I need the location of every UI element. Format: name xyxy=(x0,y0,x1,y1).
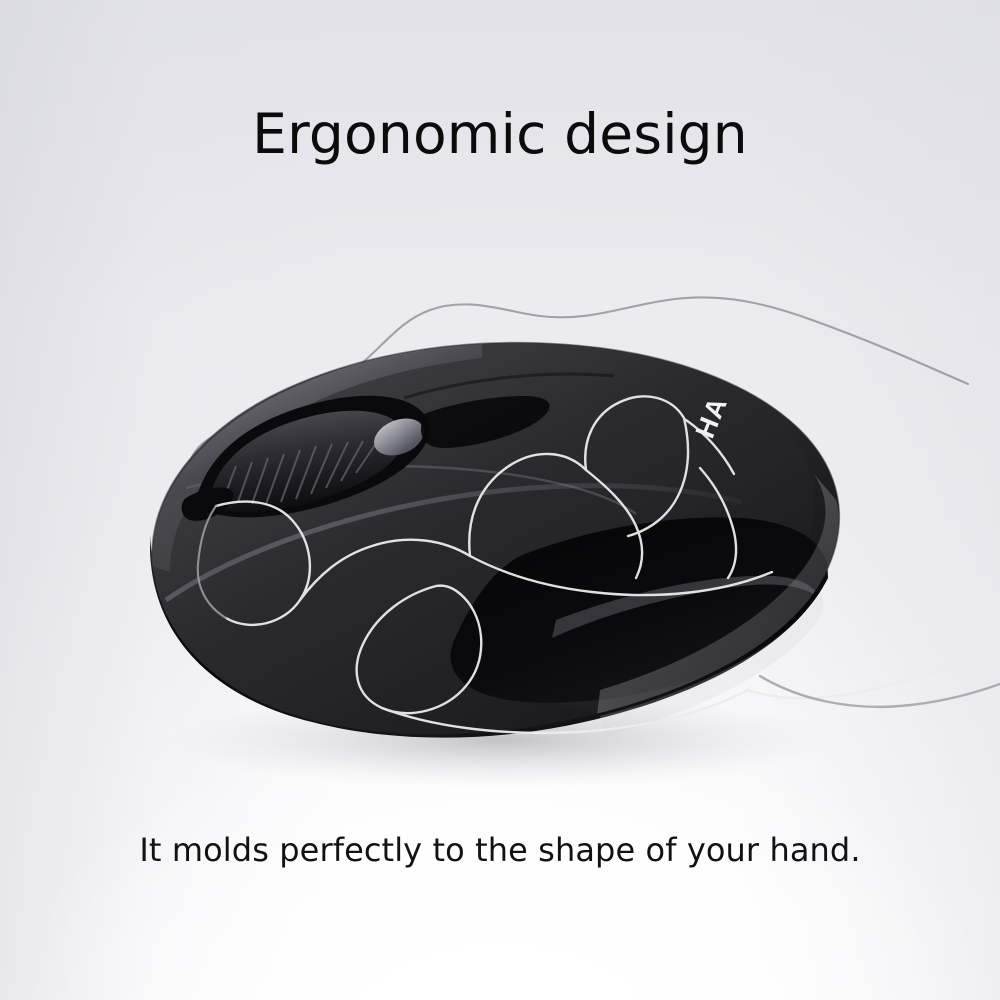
page-title: Ergonomic design xyxy=(0,104,1000,165)
page-caption: It molds perfectly to the shape of your … xyxy=(0,832,1000,869)
product-banner: HA xyxy=(0,0,1000,1000)
wireless-mouse: HA xyxy=(150,330,849,738)
